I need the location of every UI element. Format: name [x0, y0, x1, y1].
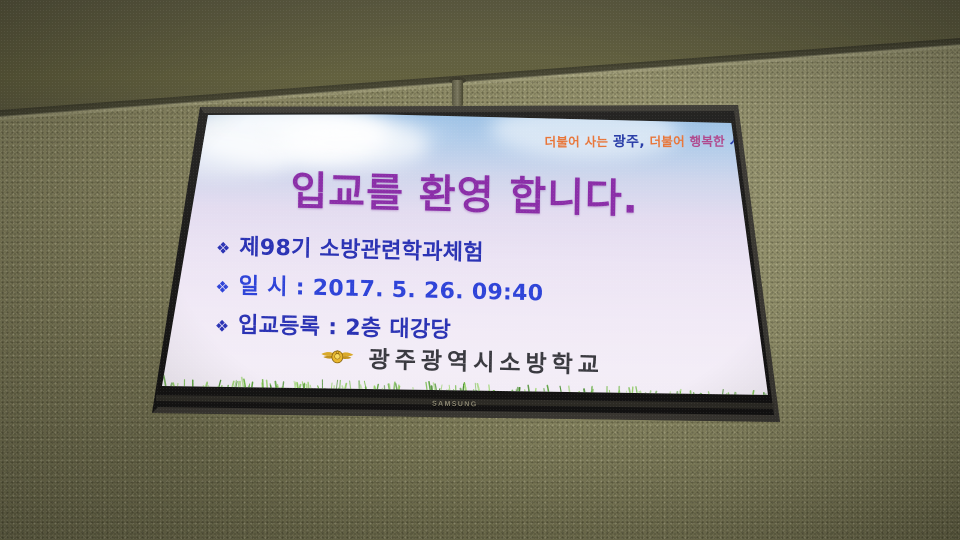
- diamond-bullet-icon: ❖: [215, 279, 230, 295]
- welcome-headline: 입교를 환영 합니다.: [158, 155, 771, 228]
- tv-screen[interactable]: 더불어 사는 광주, 더불어 행복한 시민 입교를 환영 합니다. ❖ 제98기…: [150, 95, 782, 425]
- photo-scene: 더불어 사는 광주, 더불어 행복한 시민 입교를 환영 합니다. ❖ 제98기…: [0, 0, 960, 540]
- wall-mounted-television[interactable]: 더불어 사는 광주, 더불어 행복한 시민 입교를 환영 합니다. ❖ 제98기…: [150, 95, 782, 425]
- bullet-row: ❖ 일 시 : 2017. 5. 26. 09:40: [215, 267, 543, 307]
- slogan-part-3: 더불어: [644, 134, 689, 149]
- slogan-part-4: 행복한: [689, 134, 729, 149]
- bullet-text-course: 제98기 소방관련학과체험: [239, 229, 484, 267]
- fire-service-winged-emblem-icon: [320, 346, 354, 367]
- slogan-part-2: 광주,: [612, 134, 644, 150]
- diamond-bullet-icon: ❖: [215, 318, 230, 334]
- bullet-text-datetime: 일 시 : 2017. 5. 26. 09:40: [239, 268, 544, 307]
- diamond-bullet-icon: ❖: [216, 240, 231, 256]
- organization-name: 광주광역시소방학교: [368, 340, 604, 380]
- bullet-row: ❖ 제98기 소방관련학과체험: [216, 228, 544, 268]
- samsung-brand-logo: SAMSUNG: [432, 401, 478, 409]
- notice-bullet-list: ❖ 제98기 소방관련학과체험 ❖ 일 시 : 2017. 5. 26. 09:…: [214, 228, 544, 353]
- notice-slide: 더불어 사는 광주, 더불어 행복한 시민 입교를 환영 합니다. ❖ 제98기…: [156, 109, 772, 414]
- slogan-part-1: 더불어 사는: [544, 134, 612, 149]
- city-slogan: 더불어 사는 광주, 더불어 행복한 시민: [544, 131, 756, 152]
- screen-glare: [199, 109, 460, 156]
